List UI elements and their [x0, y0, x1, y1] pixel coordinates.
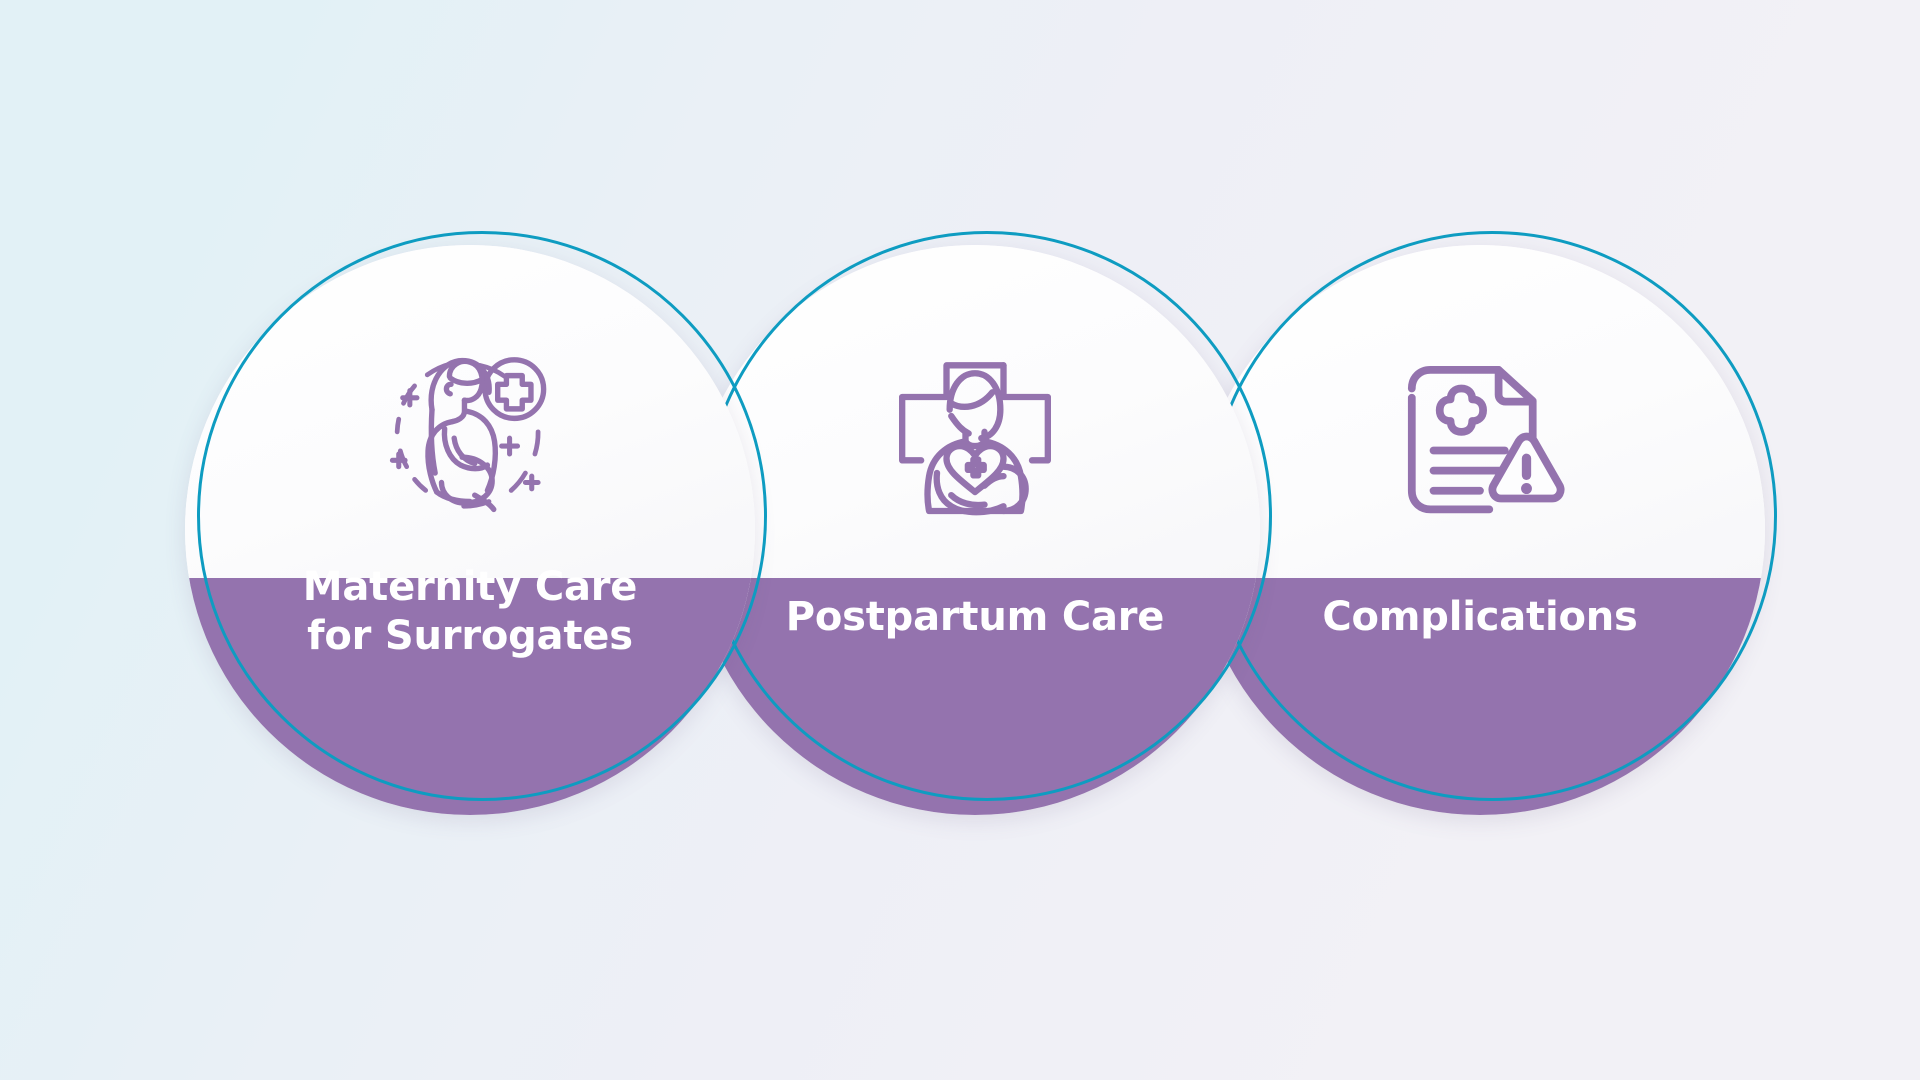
circle-label: Complications [1195, 593, 1765, 642]
mother-holding-baby-medical-cross-icon [690, 305, 1260, 565]
circle-card-maternity-care-for-surrogates[interactable]: Maternity Care for Surrogates [185, 245, 755, 815]
circle-label: Maternity Care for Surrogates [185, 563, 755, 661]
pregnant-woman-medical-cross-icon [185, 305, 755, 565]
infographic-canvas: Maternity Care for Surrogates [0, 0, 1920, 1080]
circle-card-postpartum-care[interactable]: Postpartum Care [690, 245, 1260, 815]
circle-label: Postpartum Care [690, 593, 1260, 642]
medical-document-warning-icon [1195, 305, 1765, 565]
circle-card-complications[interactable]: Complications [1195, 245, 1765, 815]
circle-group: Maternity Care for Surrogates [0, 0, 1920, 1080]
